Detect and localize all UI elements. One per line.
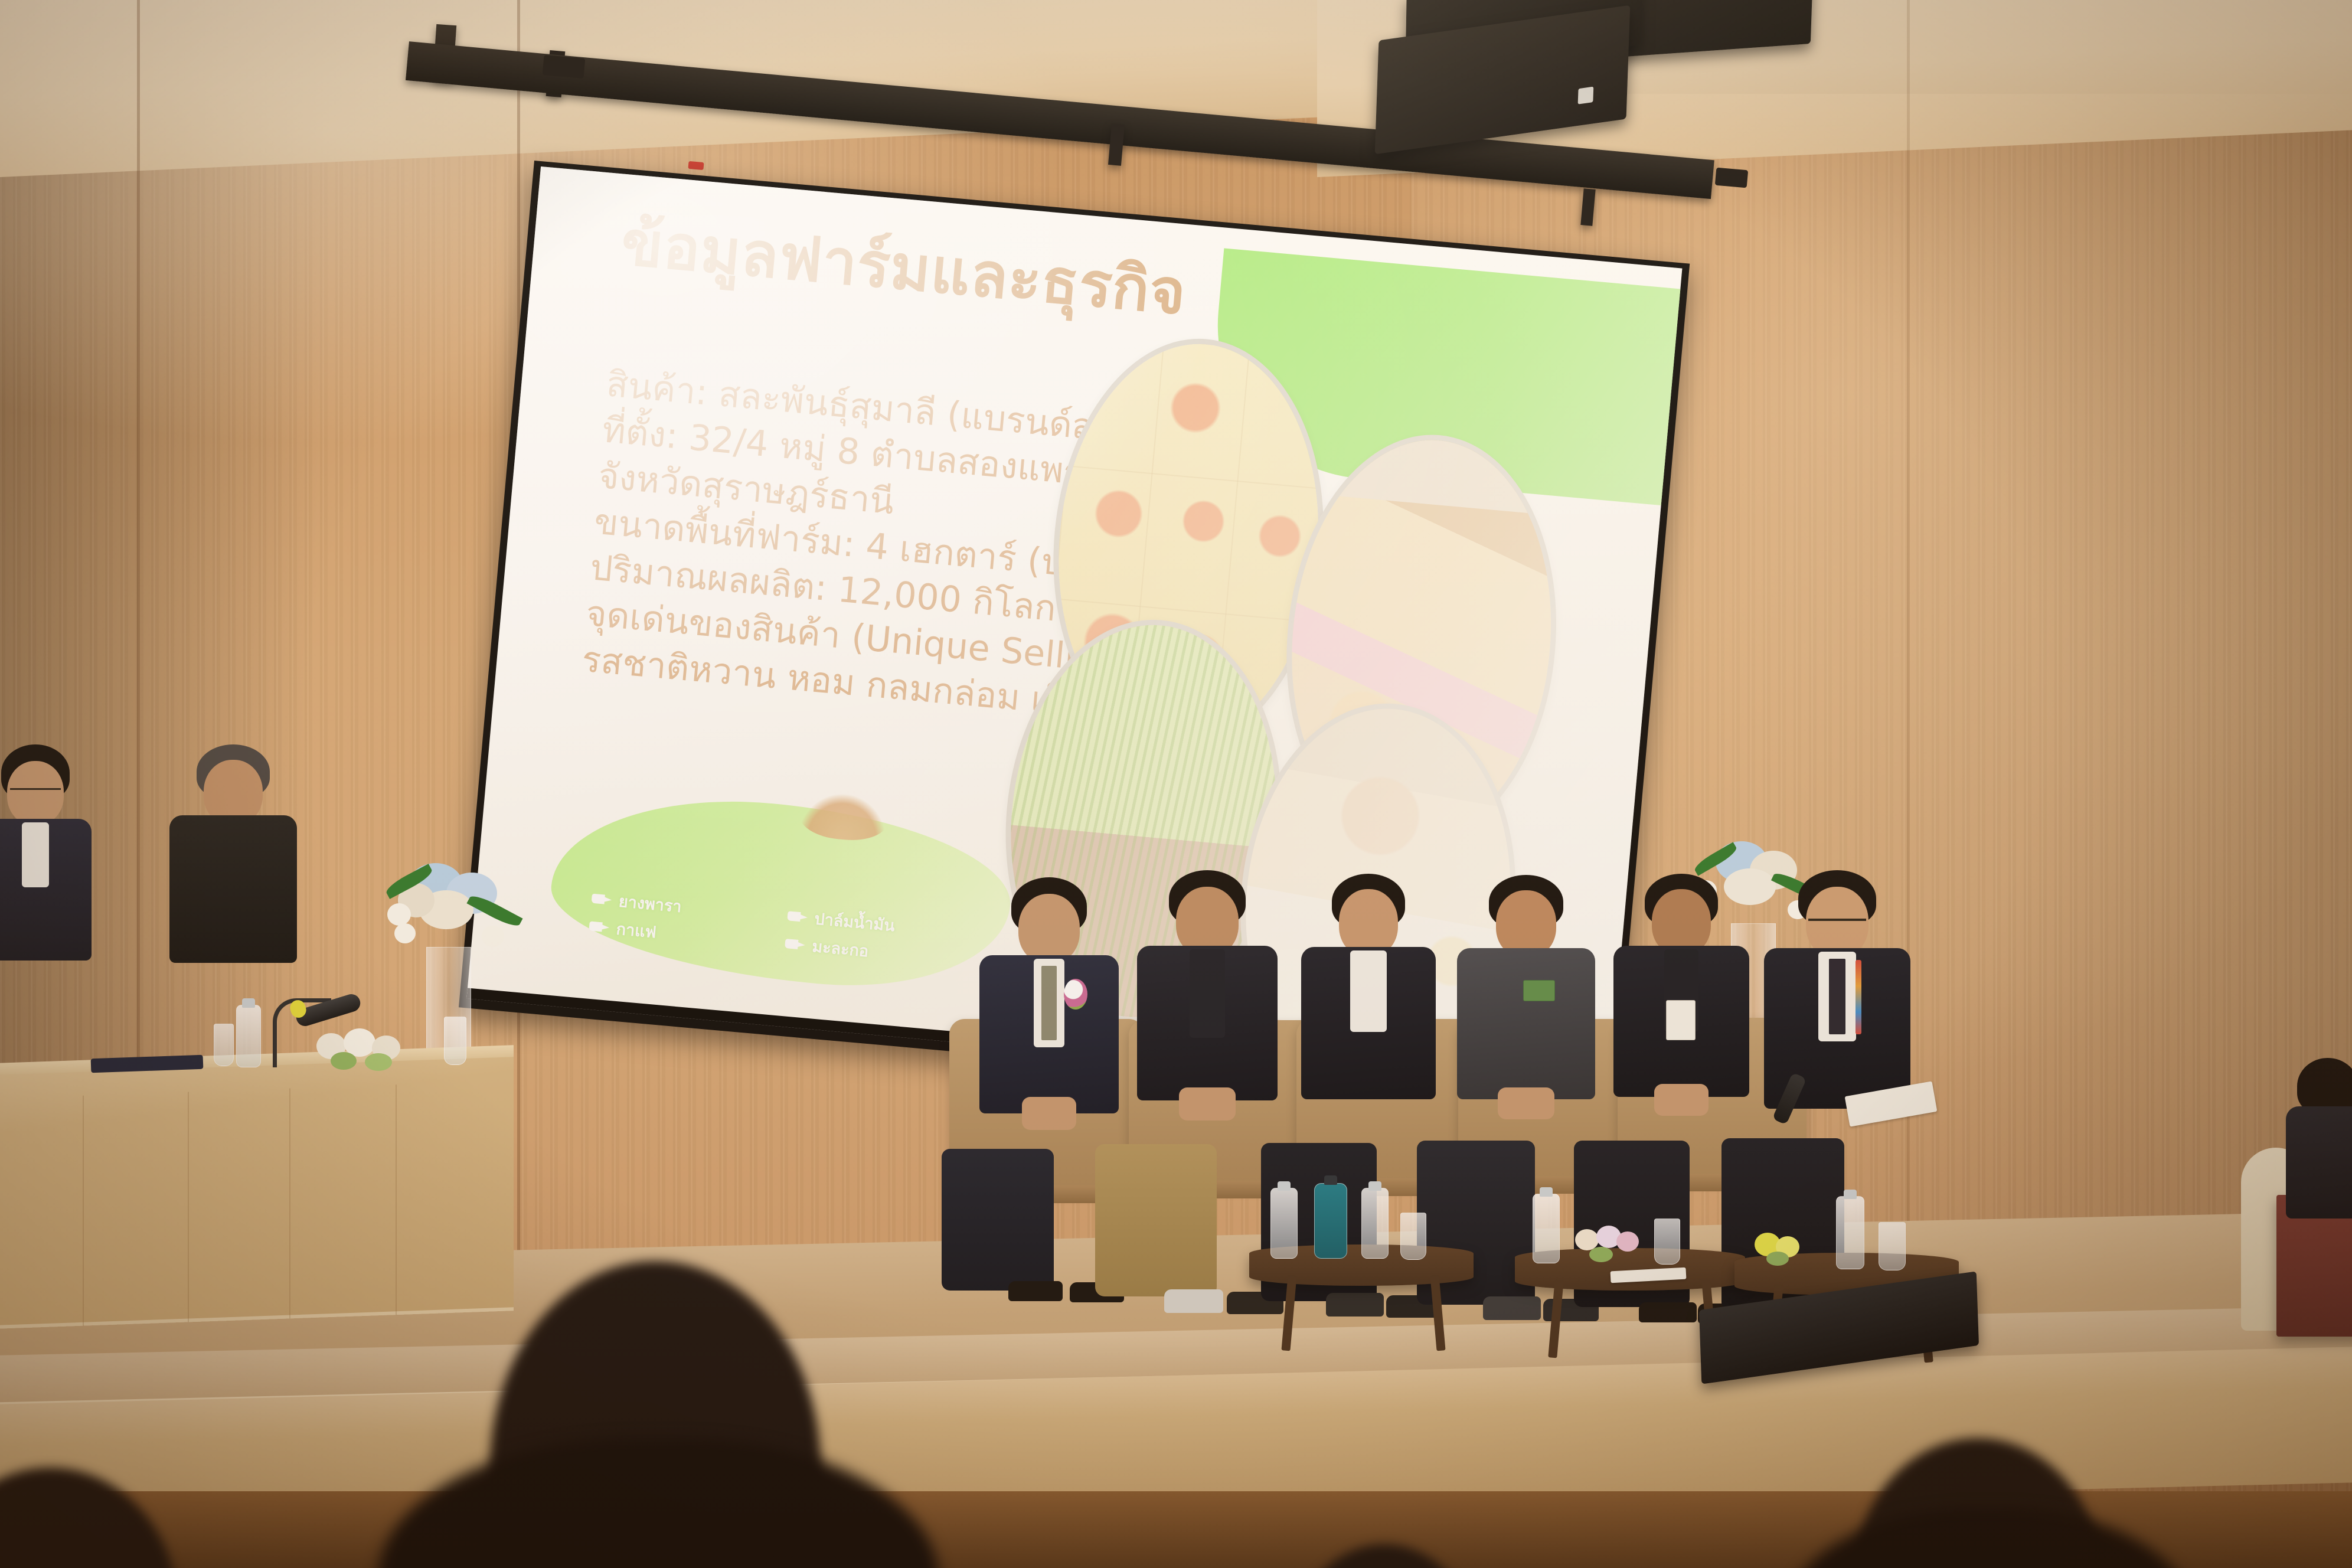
orchid-bloom — [482, 926, 504, 947]
flower-arrangement — [378, 860, 520, 963]
eyeglasses — [1808, 919, 1866, 921]
drinking-glass — [444, 1017, 466, 1065]
drinking-glass — [214, 1024, 234, 1066]
shoe — [1008, 1281, 1063, 1301]
lanyard — [1856, 960, 1861, 1034]
panelist-4 — [1453, 875, 1599, 1144]
shoe — [1483, 1296, 1541, 1320]
shoe — [1326, 1293, 1384, 1317]
table-flower-vase — [1751, 1229, 1810, 1268]
water-bottle — [1836, 1196, 1864, 1269]
suit-jacket — [169, 815, 297, 963]
dress-shirt — [22, 822, 49, 887]
polo-logo — [1523, 980, 1555, 1001]
pointing-hand-icon — [591, 892, 612, 907]
drinking-glass — [1654, 1219, 1680, 1265]
conference-stage-photo: Centara Life Government Complex Chaeng W… — [0, 0, 2352, 1568]
head — [1339, 889, 1398, 956]
corsage-flower — [1064, 979, 1087, 1010]
speaker-brand-badge — [1578, 87, 1594, 104]
necktie — [1829, 959, 1845, 1034]
clasped-hands — [1498, 1087, 1554, 1119]
far-right-person — [2284, 1058, 2352, 1211]
panelist-2 — [1133, 870, 1281, 1148]
head — [1018, 894, 1080, 963]
drinking-glass — [1879, 1222, 1906, 1270]
jacket — [2286, 1106, 2352, 1219]
panelist-1-legs — [942, 1149, 1054, 1291]
panelist-5 — [1609, 874, 1753, 1142]
eyeglasses — [10, 788, 61, 790]
stage-light-fixture — [543, 55, 586, 79]
drinking-glass — [1400, 1213, 1426, 1260]
id-badge — [1666, 1000, 1696, 1040]
table-flower-arrangement — [313, 1025, 419, 1072]
clasped-hands — [1179, 1087, 1236, 1121]
panelist-2-legs — [1095, 1144, 1217, 1296]
head-table-person-2 — [165, 744, 301, 963]
pointing-hand-icon — [589, 920, 610, 935]
orchid-bloom — [387, 903, 411, 926]
panelist-3 — [1298, 874, 1439, 1145]
clasped-hands — [1654, 1084, 1709, 1116]
stage-light-fixture — [1715, 168, 1748, 188]
water-bottle — [1361, 1188, 1389, 1259]
shoe — [1639, 1302, 1697, 1322]
necktie — [1041, 966, 1057, 1040]
inner-shirt — [1190, 949, 1225, 1038]
head-table-person-1 — [0, 744, 94, 957]
crop-badge-label: กาแฟ — [615, 916, 658, 945]
water-bottle — [236, 1005, 261, 1067]
crop-badge-blob: ยางพารา ปาล์มน้ำมัน กาแฟ มะละกอ — [545, 785, 1017, 1000]
crop-badge-label: ยางพารา — [618, 888, 682, 919]
crop-badge-list: ยางพารา ปาล์มน้ำมัน กาแฟ มะละกอ — [545, 785, 1017, 1000]
orchid-bloom — [394, 923, 416, 943]
white-shirt — [1350, 950, 1387, 1032]
head-table-drape — [0, 1057, 514, 1329]
clasped-hands — [1022, 1097, 1076, 1130]
sneaker — [1164, 1289, 1223, 1313]
slide-title: ข้อมูลฟาร์มและธุรกิจ — [619, 211, 1189, 325]
crop-badge-label: มะละกอ — [811, 933, 870, 963]
panelist-1 — [975, 877, 1123, 1155]
pointing-hand-icon — [787, 909, 808, 924]
polo-shirt — [1457, 948, 1595, 1099]
table-flower-vase — [1573, 1223, 1642, 1266]
insulated-bottle-teal — [1314, 1183, 1347, 1259]
water-bottle — [1270, 1188, 1298, 1259]
head — [1496, 890, 1556, 958]
crop-badge-label: ปาล์มน้ำมัน — [814, 906, 896, 938]
pointing-hand-icon — [785, 937, 806, 952]
head — [7, 761, 64, 825]
water-bottle — [1533, 1194, 1560, 1263]
head — [1806, 887, 1868, 958]
indicator-light — [688, 161, 704, 170]
